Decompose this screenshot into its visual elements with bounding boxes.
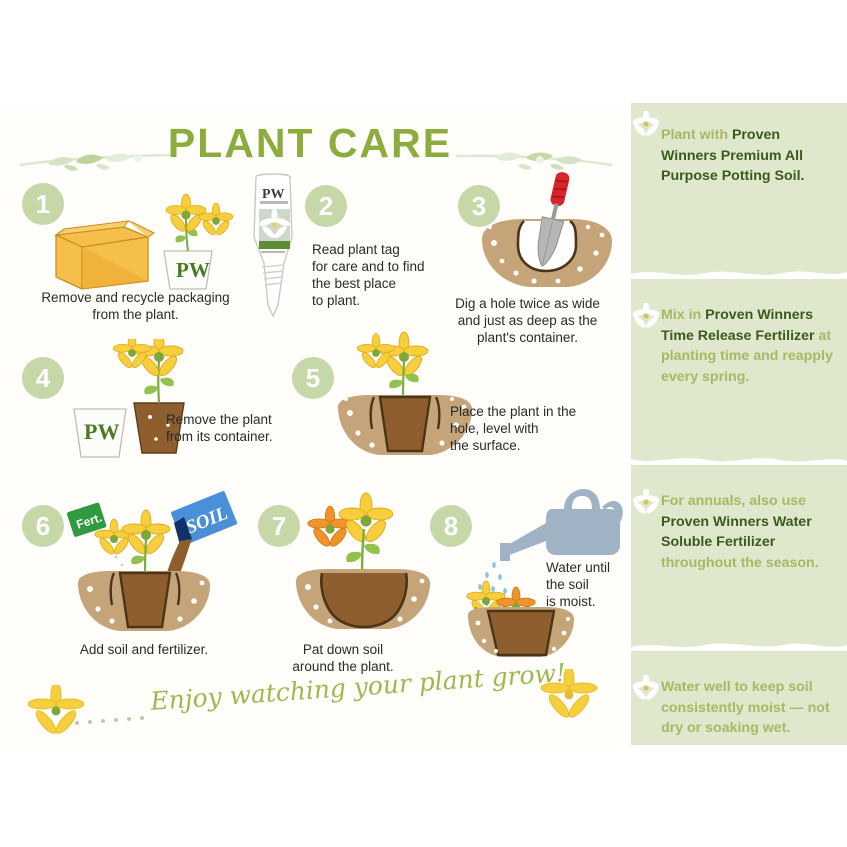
wave-divider: [631, 453, 847, 465]
svg-text:PW: PW: [176, 258, 210, 282]
tip-segment: Water well to keep soil consistently moi…: [661, 679, 830, 736]
step-caption: Read plant tag for care and to find the …: [312, 241, 427, 309]
step-badge: 4: [22, 357, 64, 399]
tip-segment-emphasis: Proven Winners Water Soluble Fertilizer: [661, 514, 812, 551]
step-caption: Water until the soil is moist.: [546, 559, 636, 610]
tip-text: Mix in Proven Winners Time Release Ferti…: [661, 305, 837, 387]
patted-soil-plant-icon: [282, 487, 442, 637]
step-badge: 5: [292, 357, 334, 399]
steps-panel: PLANT CARE 1: [0, 103, 620, 748]
wave-divider: [631, 267, 847, 279]
tip-item-4: Water well to keep soil consistently moi…: [631, 651, 847, 805]
step-3: 3: [430, 171, 620, 351]
daisy-icon: [633, 303, 659, 329]
svg-text:PW: PW: [262, 187, 285, 202]
wave-divider: [631, 639, 847, 651]
tip-segment: Plant with: [661, 127, 728, 143]
tip-item-2: Mix in Proven Winners Time Release Ferti…: [631, 279, 847, 453]
vine-right-icon: [452, 145, 614, 171]
cardboard-box-and-potted-plant-icon: PW: [36, 193, 236, 293]
step-5: 5: [288, 347, 618, 477]
step-caption: Remove and recycle packaging from the pl…: [18, 289, 253, 323]
plant-care-poster: PLANT CARE 1: [0, 0, 847, 847]
tips-sidebar: Plant with Proven Winners Premium All Pu…: [631, 103, 847, 745]
tip-text: For annuals, also use Proven Winners Wat…: [661, 491, 837, 573]
step-badge: 1: [22, 183, 64, 225]
tagline-text: Enjoy watching your plant grow!: [149, 659, 550, 716]
svg-text:PW: PW: [84, 419, 119, 444]
step-badge: 7: [258, 505, 300, 547]
soil-and-fertilizer-bags-icon: Fert. SOIL: [52, 487, 242, 637]
tip-segment: Mix in: [661, 307, 705, 323]
step-8: 8: [426, 495, 622, 665]
daisy-icon: [633, 675, 659, 701]
step-6: 6 Fert. SOIL: [14, 491, 254, 661]
tip-text: Plant with Proven Winners Premium All Pu…: [661, 125, 837, 187]
daisy-icon: [633, 489, 659, 515]
step-7: 7: [248, 495, 438, 665]
step-2: 2 PW: [240, 171, 420, 331]
trowel-digging-hole-icon: [472, 169, 622, 299]
dot-trail: [75, 715, 155, 725]
step-caption: Place the plant in the hole, level with …: [450, 403, 610, 454]
tip-item-1: Plant with Proven Winners Premium All Pu…: [631, 103, 847, 267]
step-badge: 6: [22, 505, 64, 547]
step-badge: 2: [305, 185, 347, 227]
tip-text: Water well to keep soil consistently moi…: [661, 677, 837, 739]
tagline-row: Enjoy watching your plant grow!: [0, 663, 620, 733]
flower-left-icon: [28, 685, 84, 735]
tip-segment: For annuals, also use: [661, 493, 806, 509]
step-caption: Add soil and fertilizer.: [44, 641, 244, 658]
step-badge: 8: [430, 505, 472, 547]
step-1: 1 PW: [18, 183, 248, 313]
step-badge: 3: [458, 185, 500, 227]
pot-and-rootball-plant-icon: PW: [60, 339, 210, 469]
step-4: 4 PW: [18, 351, 298, 481]
flower-right-icon: [540, 669, 598, 721]
tip-item-3: For annuals, also use Proven Winners Wat…: [631, 465, 847, 639]
plant-tag-icon: PW: [240, 171, 310, 321]
tip-segment: throughout the season.: [661, 555, 819, 571]
daisy-icon: [633, 111, 659, 137]
title-row: PLANT CARE: [0, 115, 620, 173]
step-caption: Remove the plant from its container.: [166, 411, 306, 445]
